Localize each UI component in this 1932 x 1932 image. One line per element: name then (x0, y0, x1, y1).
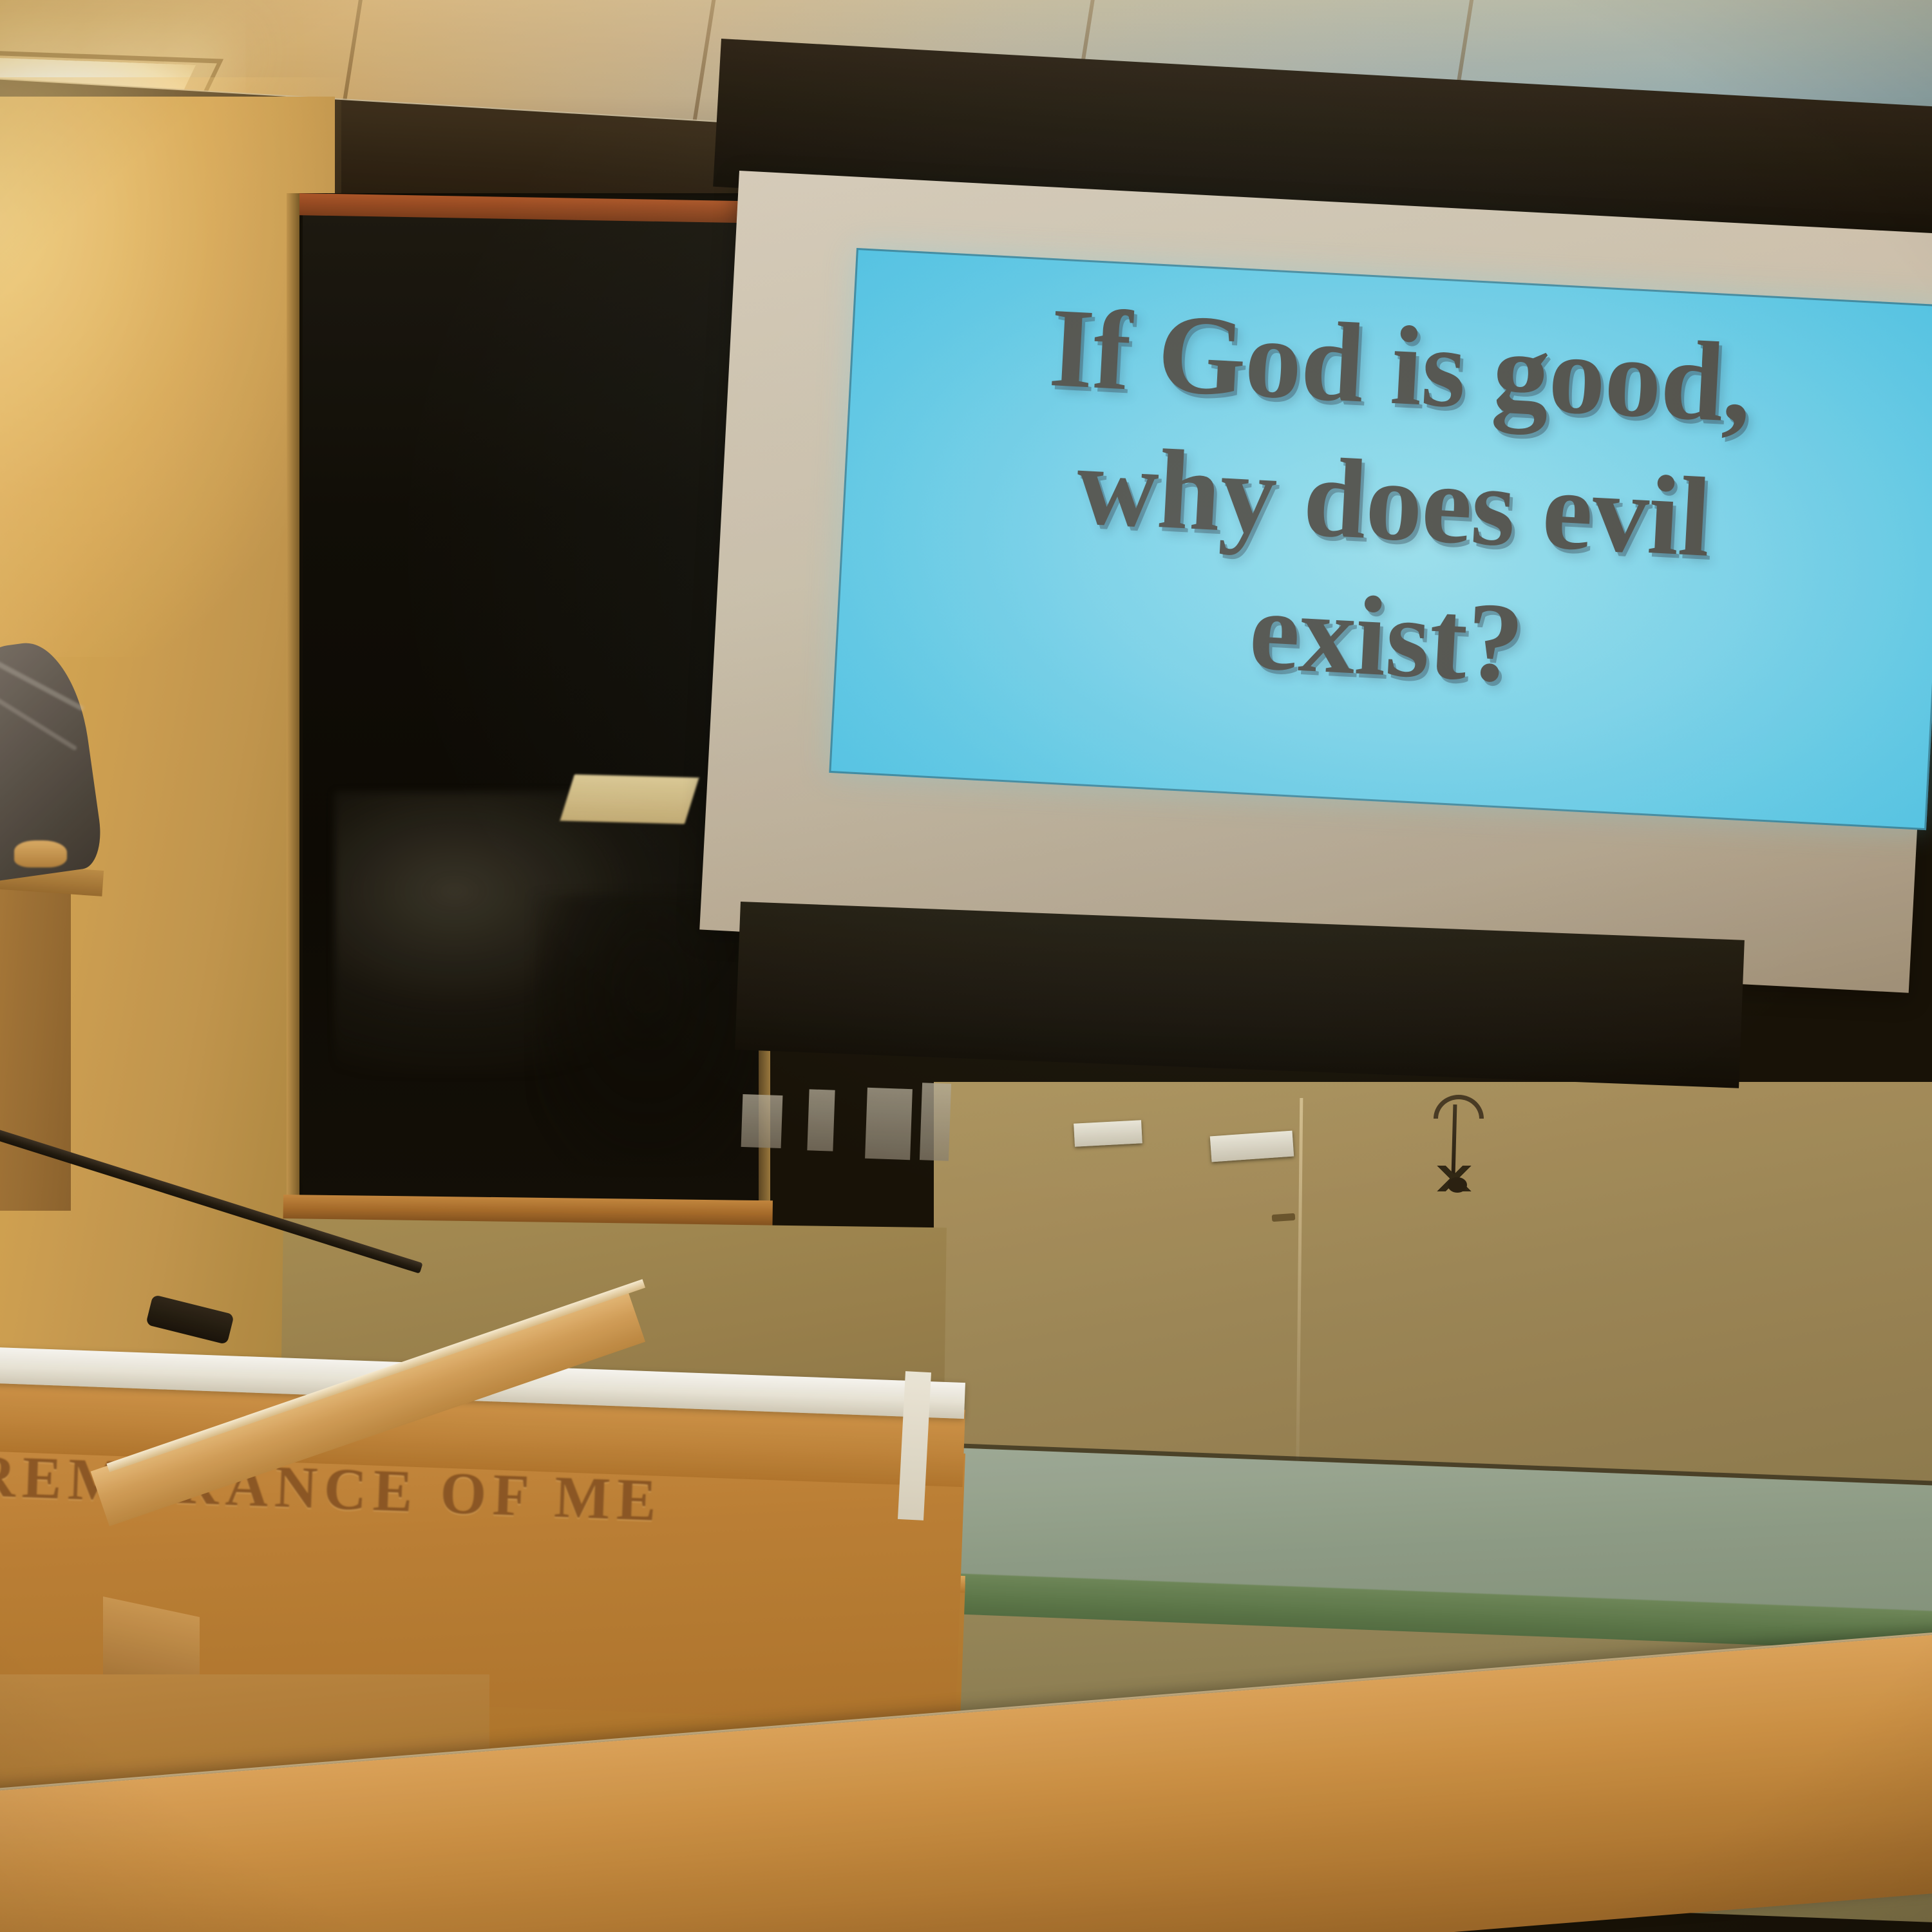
slide-line-3: exist? (1246, 562, 1526, 712)
screen-hook-weight (1448, 1177, 1467, 1193)
recess-object (807, 1089, 835, 1151)
pulpit-body (0, 889, 71, 1211)
projection-screen-surface[interactable]: If God is good, why does evil exist? (829, 248, 1932, 830)
window-reflected-ceiling-light (560, 774, 699, 824)
recess-object (920, 1083, 951, 1160)
speaker-hand (14, 840, 67, 867)
recess-object (865, 1088, 913, 1160)
recess-object (741, 1094, 783, 1148)
slide-content: If God is good, why does evil exist? (831, 250, 1932, 828)
window-reflection-dark (535, 895, 760, 1166)
sanctuary-scene: If God is good, why does evil exist? REM… (0, 0, 1932, 1932)
small-white-sign-left (1074, 1120, 1142, 1146)
window-frame-left (287, 193, 299, 1224)
